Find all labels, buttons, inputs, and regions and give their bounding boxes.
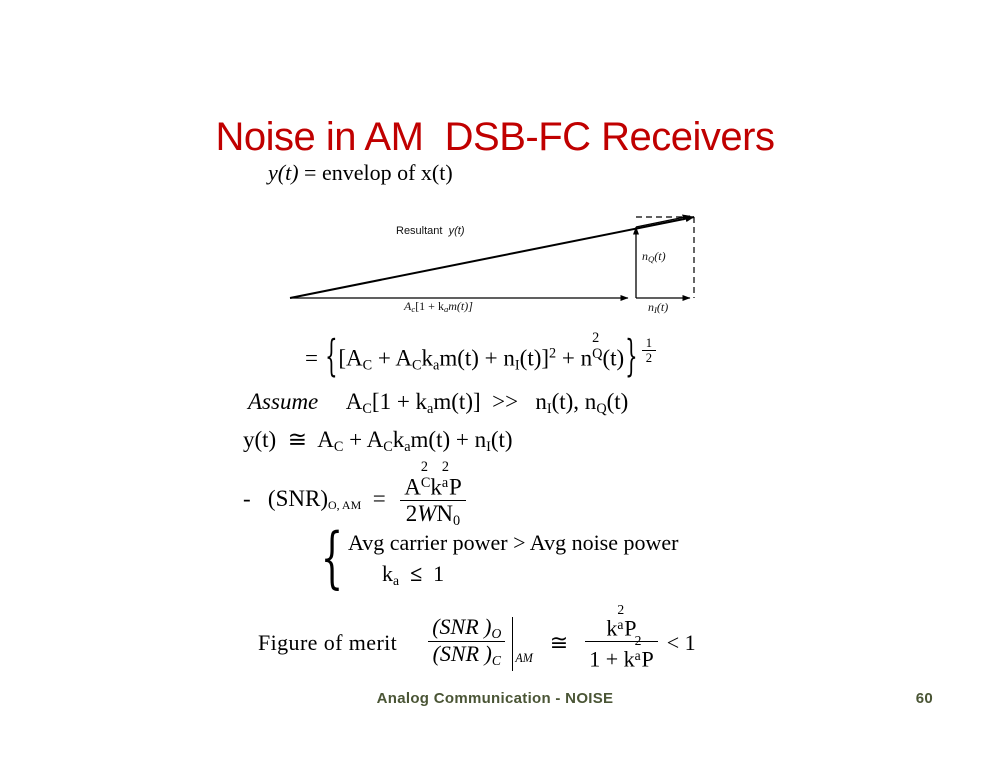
figure-of-merit-label: Figure of merit	[258, 630, 397, 656]
resultant-label: Resultant y(t)	[396, 225, 465, 237]
much-greater-than: >>	[492, 389, 518, 414]
equation-output-snr: - (SNR)O, AM = A2Ck2aP 2WN0	[243, 470, 469, 531]
envelope-definition: y(t) = envelop of x(t)	[268, 162, 453, 184]
figure-of-merit-value: k2aP 1 + k2aP	[585, 611, 657, 673]
less-than-one: < 1	[667, 630, 696, 656]
nq-squared: 2Q	[592, 338, 602, 367]
conditions-lines: Avg carrier power > Avg noise power ka ≤…	[348, 527, 678, 590]
conditions-group: { Avg carrier power > Avg noise power ka…	[318, 527, 678, 590]
page-title: Noise in AM DSB-FC Receivers	[0, 115, 990, 160]
figure-of-merit-row: Figure of merit (SNR )O (SNR )C AM ≅ k2a…	[258, 612, 696, 674]
snr-channel-term: (SNR )C	[428, 641, 505, 668]
condition-ka: ka ≤ 1	[348, 558, 678, 590]
assume-keyword: Assume	[248, 389, 318, 414]
envelope-lhs: y(t)	[268, 160, 299, 185]
close-brace: }	[625, 337, 637, 380]
evaluation-subscript: AM	[515, 651, 532, 666]
snr-output-term: (SNR )O	[428, 615, 505, 641]
snr-denominator: 2WN0	[400, 500, 466, 530]
figure-of-merit-approx: ≅	[550, 630, 568, 656]
condition-power: Avg carrier power > Avg noise power	[348, 527, 678, 558]
equation-envelope-expansion: = {[AC + ACkam(t) + nI(t)]2 + n2Q(t)}12	[305, 340, 659, 375]
evaluation-bar	[512, 617, 513, 671]
carrier-phasor-label: Ac[1 + kam(t)]	[404, 299, 473, 314]
equation-assume: Assume AC[1 + kam(t)] >> nI(t), nQ(t)	[248, 390, 628, 416]
open-brace: {	[325, 337, 337, 380]
snr-numerator: A2Ck2aP	[400, 469, 466, 500]
one-half-exponent: 12	[642, 336, 656, 365]
phasor-diagram: Resultant y(t) Ac[1 + kam(t)] nQ(t) nI(t…	[276, 203, 706, 323]
conditions-brace: {	[321, 526, 343, 592]
snr-fraction: A2Ck2aP 2WN0	[400, 469, 466, 530]
snr-subscript: O, AM	[328, 498, 361, 512]
inphase-noise-label: nI(t)	[648, 300, 668, 315]
envelope-rhs: = envelop of x(t)	[304, 160, 453, 185]
figure-of-merit-ratio: (SNR )O (SNR )C	[428, 615, 505, 668]
equation-approximation: y(t) ≅ AC + ACkam(t) + nI(t)	[243, 428, 513, 454]
resultant-symbol: y(t)	[449, 225, 465, 237]
resultant-phasor-arrow	[290, 217, 694, 298]
resultant-tip-arrow	[636, 216, 690, 227]
quadrature-noise-label: nQ(t)	[642, 249, 666, 264]
slide-footer: Analog Communication - NOISE 60	[0, 690, 990, 714]
bullet-dash: -	[243, 486, 251, 511]
footer-title: Analog Communication - NOISE	[0, 690, 990, 707]
snr-token: (SNR)	[268, 486, 328, 511]
approx-equal: ≅	[288, 427, 307, 452]
slide-number: 60	[916, 690, 933, 707]
less-equal-symbol: ≤	[410, 561, 422, 586]
